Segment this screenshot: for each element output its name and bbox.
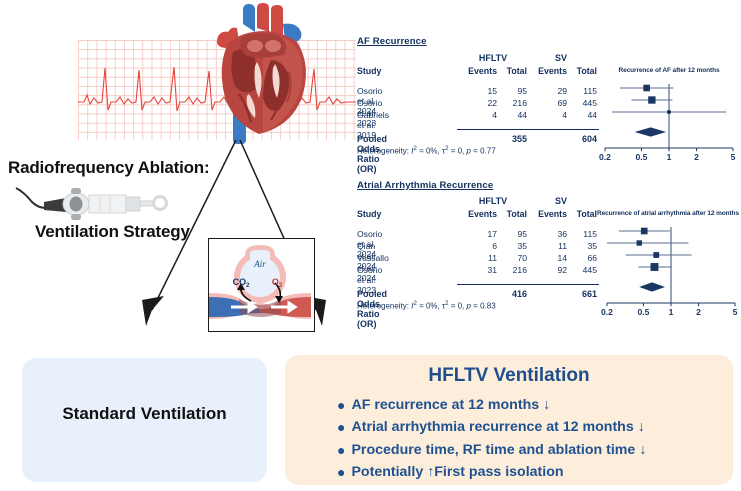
list-item: ● Procedure time, RF time and ablation t… bbox=[337, 439, 725, 461]
hfltv-total: 216 bbox=[499, 98, 527, 108]
hfltv-events: 22 bbox=[459, 98, 497, 108]
svg-text:1: 1 bbox=[669, 307, 674, 317]
hfltv-total: 44 bbox=[499, 110, 527, 120]
alveolar-gas-exchange-inset: Air CO2 O2 bbox=[208, 238, 315, 332]
standard-ventilation-label: Standard Ventilation bbox=[22, 404, 267, 424]
forest-plot-graphic-af: 0.20.5125 bbox=[599, 79, 739, 179]
svg-text:0.2: 0.2 bbox=[601, 307, 613, 317]
column-header-hfltv-total: Total bbox=[499, 209, 527, 219]
svg-text:0.2: 0.2 bbox=[599, 152, 611, 162]
sv-total: 44 bbox=[569, 110, 597, 120]
forest-plot-graphic-aa: 0.20.5125 bbox=[601, 222, 741, 332]
column-header-study: Study bbox=[357, 66, 381, 76]
sv-events: 11 bbox=[529, 241, 567, 251]
column-header-sv-events: Events bbox=[529, 66, 567, 76]
bullet-dot-icon: ● bbox=[337, 439, 345, 461]
sv-total: 115 bbox=[569, 229, 597, 239]
column-header-sv-total: Total bbox=[569, 66, 597, 76]
svg-text:2: 2 bbox=[696, 307, 701, 317]
bullet-text: Potentially ↑First pass isolation bbox=[351, 461, 563, 483]
sv-events: 36 bbox=[529, 229, 567, 239]
sv-events: 29 bbox=[529, 86, 567, 96]
bullet-dot-icon: ● bbox=[337, 416, 345, 438]
forest-panel-af-recurrence: AF Recurrence HFLTV SV Study Events Tota… bbox=[357, 36, 739, 53]
hfltv-title: HFLTV Ventilation bbox=[285, 365, 733, 387]
het-prefix: Heterogeneity: bbox=[357, 302, 411, 311]
column-header-study: Study bbox=[357, 209, 381, 219]
list-item: ● AF recurrence at 12 months ↓ bbox=[337, 394, 725, 416]
hfltv-events: 15 bbox=[459, 86, 497, 96]
bullet-dot-icon: ● bbox=[337, 394, 345, 416]
list-item: ● Potentially ↑First pass isolation bbox=[337, 461, 725, 483]
bullet-text: AF recurrence at 12 months ↓ bbox=[351, 394, 550, 416]
hfltv-events: 17 bbox=[459, 229, 497, 239]
hfltv-events: 31 bbox=[459, 265, 497, 275]
sv-events: 14 bbox=[529, 253, 567, 263]
column-header-hfltv-total: Total bbox=[499, 66, 527, 76]
het-prefix: Heterogeneity: bbox=[357, 147, 411, 156]
group-header-sv: SV bbox=[533, 196, 589, 206]
plot-header: Recurrence of atrial arrhythmia after 12… bbox=[597, 210, 739, 217]
column-header-hfltv-events: Events bbox=[459, 209, 497, 219]
hfltv-total: 216 bbox=[499, 265, 527, 275]
svg-text:2: 2 bbox=[694, 152, 699, 162]
het-tau-value: = 0, bbox=[448, 147, 466, 156]
forest-panel-atrial-arrhythmia: Atrial Arrhythmia Recurrence HFLTV SV St… bbox=[357, 180, 739, 196]
hfltv-bullet-list: ● AF recurrence at 12 months ↓ ● Atrial … bbox=[337, 394, 725, 484]
section-title: Atrial Arrhythmia Recurrence bbox=[357, 180, 739, 191]
pooled-hfltv-total: 416 bbox=[487, 289, 527, 299]
pooled-sv-total: 661 bbox=[557, 289, 597, 299]
alveolus-air-label: Air bbox=[253, 259, 266, 269]
het-i2-value: = 0%, bbox=[417, 147, 442, 156]
sv-events: 92 bbox=[529, 265, 567, 275]
het-p-value: = 0.77 bbox=[471, 147, 496, 156]
het-i2-value: = 0%, bbox=[417, 302, 442, 311]
svg-text:1: 1 bbox=[667, 152, 672, 162]
group-header-hfltv: HFLTV bbox=[465, 196, 521, 206]
list-item: ● Atrial arrhythmia recurrence at 12 mon… bbox=[337, 416, 725, 438]
sv-total: 445 bbox=[569, 265, 597, 275]
table-divider bbox=[457, 284, 599, 285]
pooled-sv-total: 604 bbox=[557, 134, 597, 144]
pooled-hfltv-total: 355 bbox=[487, 134, 527, 144]
section-title: AF Recurrence bbox=[357, 36, 739, 47]
hfltv-events: 6 bbox=[459, 241, 497, 251]
sv-total: 35 bbox=[569, 241, 597, 251]
hfltv-total: 95 bbox=[499, 86, 527, 96]
hfltv-total: 35 bbox=[499, 241, 527, 251]
plot-header: Recurrence of AF after 12 months bbox=[601, 67, 737, 74]
hfltv-total: 70 bbox=[499, 253, 527, 263]
hfltv-total: 95 bbox=[499, 229, 527, 239]
standard-ventilation-box: Standard Ventilation bbox=[22, 358, 267, 482]
sv-total: 66 bbox=[569, 253, 597, 263]
het-p-value: = 0.83 bbox=[471, 302, 496, 311]
hfltv-events: 11 bbox=[459, 253, 497, 263]
column-header-sv-total: Total bbox=[569, 209, 597, 219]
svg-text:0.5: 0.5 bbox=[637, 307, 649, 317]
svg-text:5: 5 bbox=[733, 307, 738, 317]
column-header-hfltv-events: Events bbox=[459, 66, 497, 76]
heterogeneity-line: Heterogeneity: I2 = 0%, τ2 = 0, p = 0.77 bbox=[357, 146, 496, 156]
hfltv-events: 4 bbox=[459, 110, 497, 120]
bullet-dot-icon: ● bbox=[337, 461, 345, 483]
svg-text:5: 5 bbox=[731, 152, 736, 162]
group-header-sv: SV bbox=[533, 53, 589, 63]
sv-total: 445 bbox=[569, 98, 597, 108]
table-divider bbox=[457, 129, 599, 130]
sv-events: 4 bbox=[529, 110, 567, 120]
sv-total: 115 bbox=[569, 86, 597, 96]
group-header-hfltv: HFLTV bbox=[465, 53, 521, 63]
svg-text:0.5: 0.5 bbox=[635, 152, 647, 162]
hfltv-ventilation-box: HFLTV Ventilation ● AF recurrence at 12 … bbox=[285, 355, 733, 485]
sv-events: 69 bbox=[529, 98, 567, 108]
bullet-text: Atrial arrhythmia recurrence at 12 month… bbox=[351, 416, 644, 438]
heart-cross-section-illustration bbox=[197, 2, 327, 144]
column-header-sv-events: Events bbox=[529, 209, 567, 219]
het-tau-value: = 0, bbox=[448, 302, 466, 311]
heterogeneity-line: Heterogeneity: I2 = 0%, τ2 = 0, p = 0.83 bbox=[357, 301, 496, 311]
bullet-text: Procedure time, RF time and ablation tim… bbox=[351, 439, 646, 461]
